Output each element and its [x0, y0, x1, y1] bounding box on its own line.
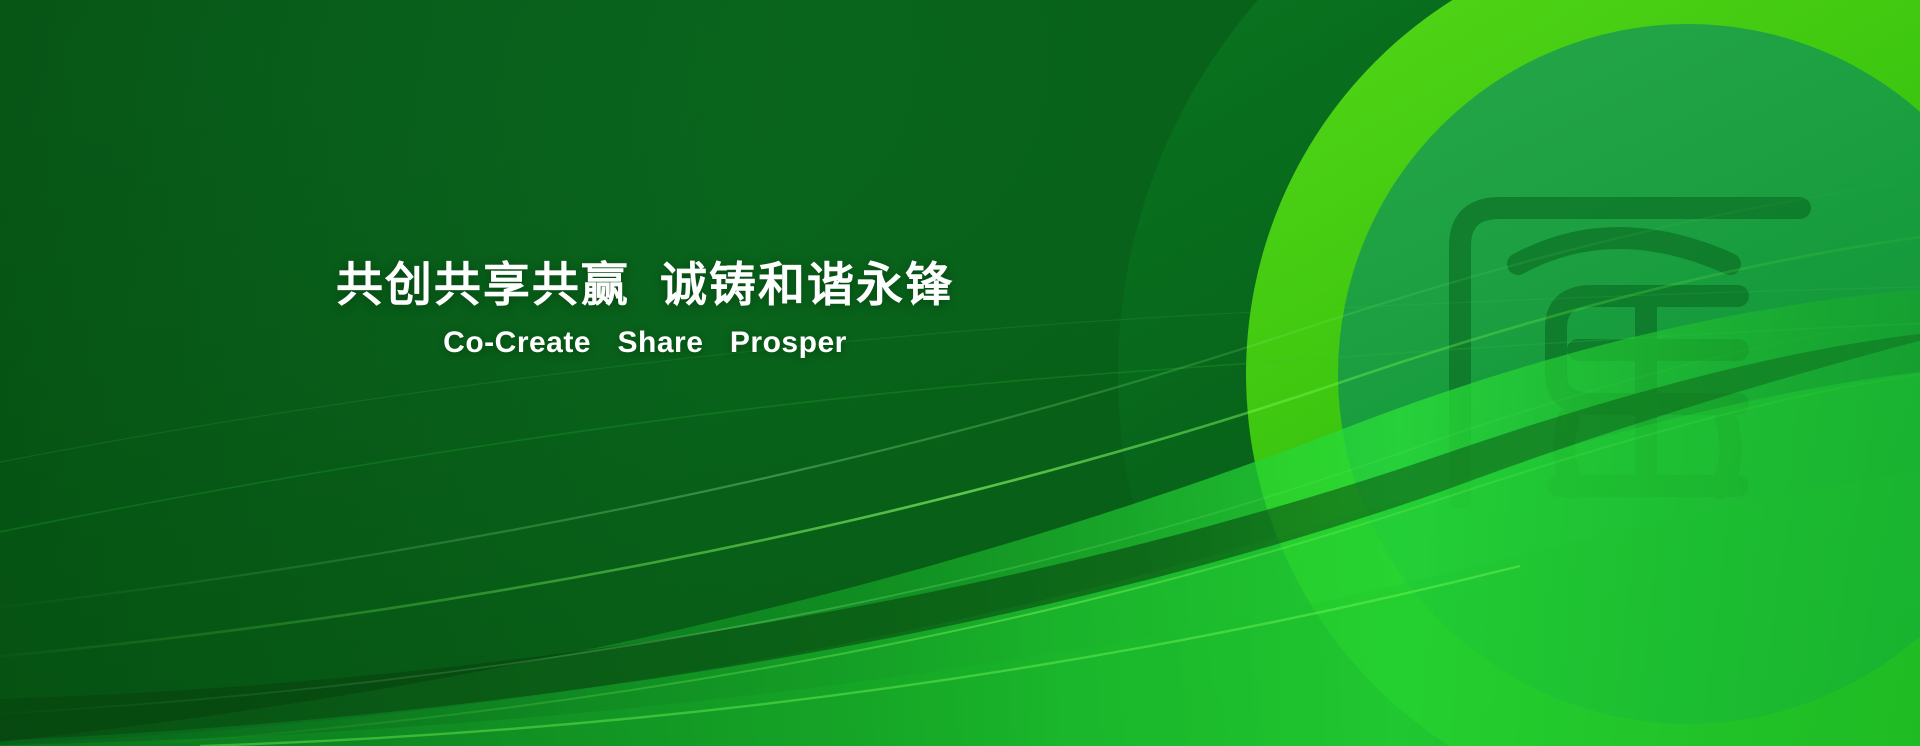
hero-banner: 共创共享共赢 诚铸和谐永锋 Co-Create Share Prosper [0, 0, 1920, 746]
banner-headline: 共创共享共赢 诚铸和谐永锋 [0, 256, 1290, 313]
banner-subheadline: Co-Create Share Prosper [0, 325, 1290, 361]
banner-copy-block: 共创共享共赢 诚铸和谐永锋 Co-Create Share Prosper [0, 256, 1290, 361]
company-seal-glyph-icon [1408, 168, 1828, 508]
